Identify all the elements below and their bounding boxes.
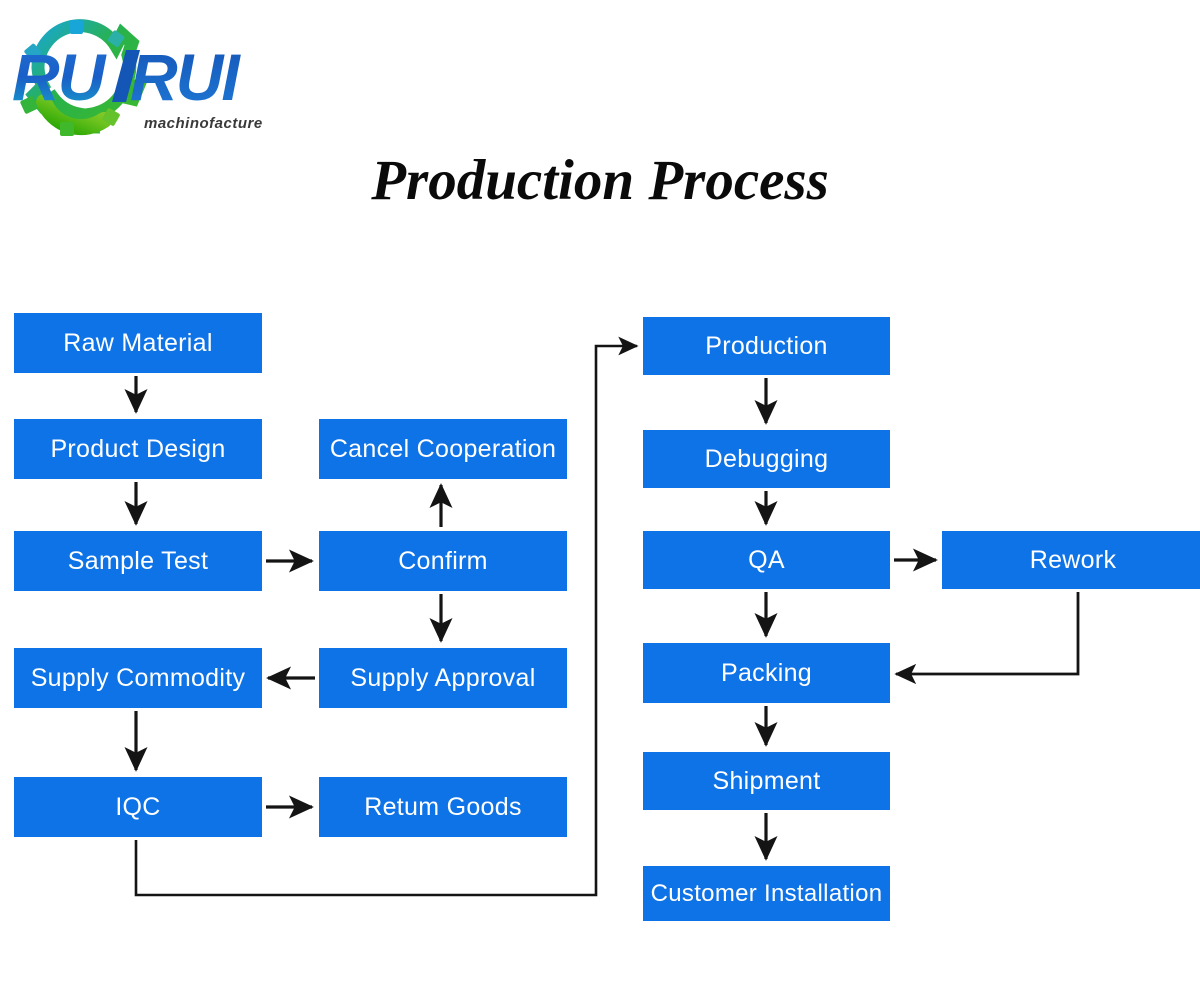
node-iqc[interactable]: IQC bbox=[14, 777, 262, 837]
node-production[interactable]: Production bbox=[643, 317, 890, 375]
node-raw-material[interactable]: Raw Material bbox=[14, 313, 262, 373]
node-cancel-cooperation[interactable]: Cancel Cooperation bbox=[319, 419, 567, 479]
logo-tagline: machinofacture bbox=[144, 115, 263, 132]
node-confirm[interactable]: Confirm bbox=[319, 531, 567, 591]
node-sample-test[interactable]: Sample Test bbox=[14, 531, 262, 591]
logo-wordmark-jrui: RUI bbox=[130, 40, 241, 114]
logo-graphic: RU RUI machinofacture bbox=[8, 6, 298, 146]
node-rework[interactable]: Rework bbox=[942, 531, 1200, 589]
page-title: Production Process bbox=[0, 148, 1200, 213]
ruirui-logo: RU RUI machinofacture bbox=[8, 6, 298, 146]
node-qa[interactable]: QA bbox=[643, 531, 890, 589]
node-supply-commodity[interactable]: Supply Commodity bbox=[14, 648, 262, 708]
edge-rework-to-packing bbox=[896, 592, 1078, 674]
production-process-diagram: RU RUI machinofacture Production Process bbox=[0, 0, 1200, 1000]
node-product-design[interactable]: Product Design bbox=[14, 419, 262, 479]
node-customer-installation[interactable]: Customer Installation bbox=[643, 866, 890, 921]
node-debugging[interactable]: Debugging bbox=[643, 430, 890, 488]
node-supply-approval[interactable]: Supply Approval bbox=[319, 648, 567, 708]
logo-wordmark-ru: RU bbox=[12, 40, 108, 114]
node-return-goods[interactable]: Retum Goods bbox=[319, 777, 567, 837]
node-packing[interactable]: Packing bbox=[643, 643, 890, 703]
node-shipment[interactable]: Shipment bbox=[643, 752, 890, 810]
